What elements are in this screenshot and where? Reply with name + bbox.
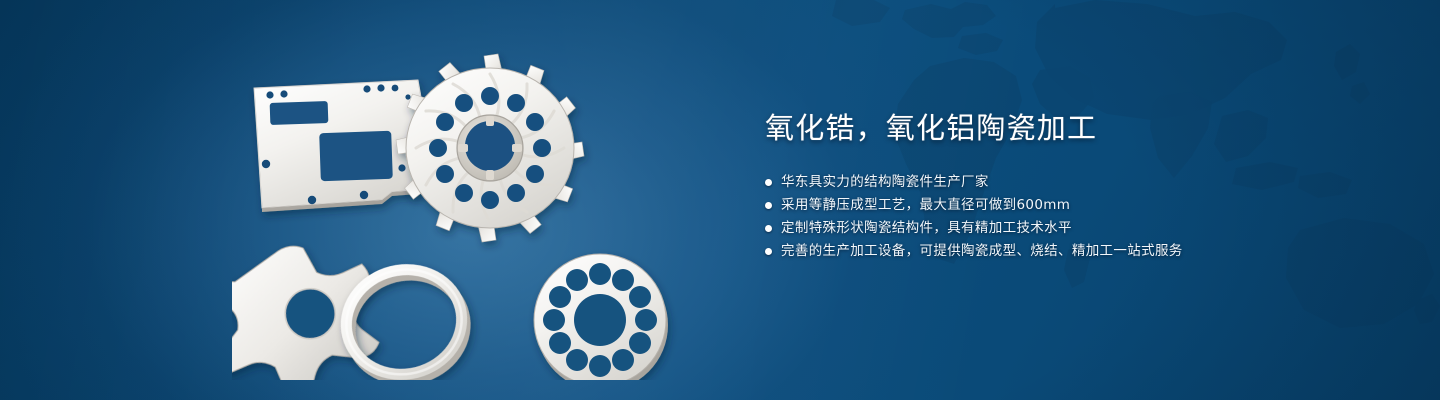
bullet-marker-icon [765,248,772,255]
list-item: 采用等静压成型工艺，最大直径可做到600mm [765,194,1325,217]
feature-list: 华东具实力的结构陶瓷件生产厂家 采用等静压成型工艺，最大直径可做到600mm 定… [765,171,1325,263]
feature-text: 采用等静压成型工艺，最大直径可做到600mm [781,194,1070,217]
bullet-marker-icon [765,225,772,232]
feature-text: 完善的生产加工设备，可提供陶瓷成型、烧结、精加工一站式服务 [781,240,1183,263]
list-item: 完善的生产加工设备，可提供陶瓷成型、烧结、精加工一站式服务 [765,240,1325,263]
bullet-marker-icon [765,202,772,209]
banner-copy: 氧化锆，氧化铝陶瓷加工 华东具实力的结构陶瓷件生产厂家 采用等静压成型工艺，最大… [765,108,1325,263]
ceramic-perforated-disc-shape [534,254,668,380]
ceramic-products-image [232,40,702,380]
ceramic-impeller-shape [396,54,584,242]
list-item: 华东具实力的结构陶瓷件生产厂家 [765,171,1325,194]
banner-headline: 氧化锆，氧化铝陶瓷加工 [765,108,1325,148]
feature-text: 定制特殊形状陶瓷结构件，具有精加工技术水平 [781,217,1072,240]
list-item: 定制特殊形状陶瓷结构件，具有精加工技术水平 [765,217,1325,240]
bullet-marker-icon [765,179,772,186]
feature-text: 华东具实力的结构陶瓷件生产厂家 [781,171,989,194]
promo-banner: 氧化锆，氧化铝陶瓷加工 华东具实力的结构陶瓷件生产厂家 采用等静压成型工艺，最大… [0,0,1440,400]
